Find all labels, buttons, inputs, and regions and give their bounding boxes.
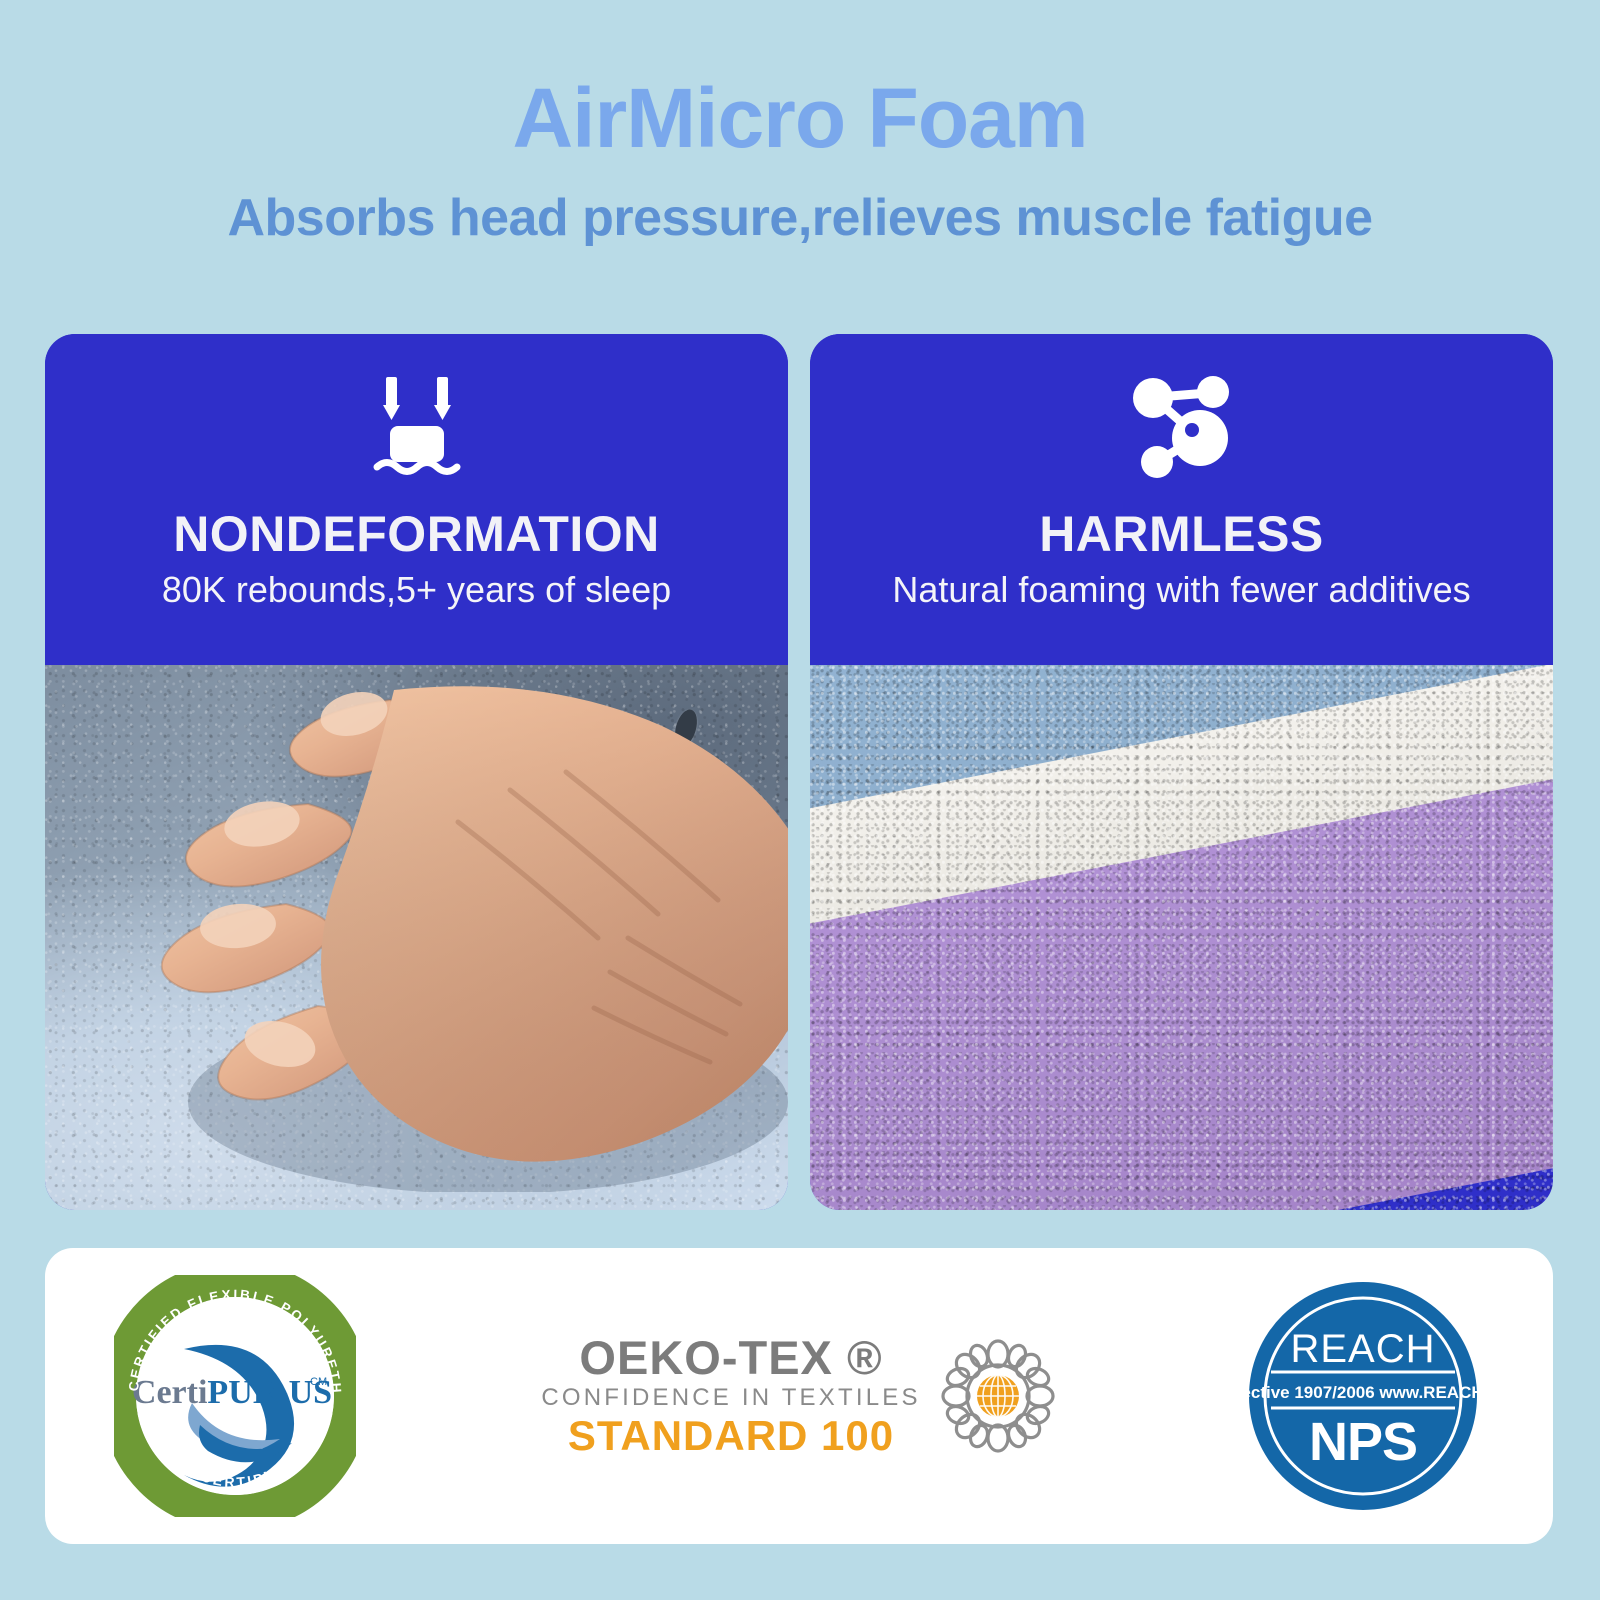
molecule-icon xyxy=(1122,334,1242,502)
card-description: 80K rebounds,5+ years of sleep xyxy=(154,560,679,610)
oeko-tex-globe-emblem xyxy=(939,1337,1057,1455)
compression-rebound-icon xyxy=(357,334,477,502)
card-header: HARMLESS Natural foaming with fewer addi… xyxy=(810,334,1553,665)
svg-text:CertiPUR-US: CertiPUR-US xyxy=(132,1374,332,1411)
page-title: AirMicro Foam xyxy=(0,0,1600,160)
cert-logo-reach-nps: REACH Directive 1907/2006 www.REACH.so N… xyxy=(1173,1248,1553,1544)
layered-foam-photo xyxy=(810,665,1553,1210)
cert-logo-oeko-tex: OEKO-TEX ® CONFIDENCE IN TEXTILES STANDA… xyxy=(425,1248,1173,1544)
feature-card-nondeformation[interactable]: NONDEFORMATION 80K rebounds,5+ years of … xyxy=(45,334,788,1210)
cert-logo-certipur-us: CertiPUR-US CM CONTAINS CERTIFIED FLEXIB… xyxy=(45,1248,425,1544)
trademark-mark: CM xyxy=(310,1376,327,1388)
hand-pressing-foam-photo xyxy=(45,665,788,1210)
certification-panel: CertiPUR-US CM CONTAINS CERTIFIED FLEXIB… xyxy=(45,1248,1553,1544)
hand-illustration xyxy=(158,672,788,1192)
reach-nps-label: NPS xyxy=(1309,1412,1417,1472)
feature-card-list: NONDEFORMATION 80K rebounds,5+ years of … xyxy=(45,334,1553,1210)
card-title: NONDEFORMATION xyxy=(163,502,670,560)
card-description: Natural foaming with fewer additives xyxy=(884,560,1478,610)
oeko-standard: STANDARD 100 xyxy=(568,1413,894,1459)
oeko-wordmark: OEKO-TEX ® xyxy=(579,1333,882,1383)
feature-card-harmless[interactable]: HARMLESS Natural foaming with fewer addi… xyxy=(810,334,1553,1210)
reach-directive: Directive 1907/2006 www.REACH.so xyxy=(1247,1383,1479,1402)
oeko-tagline: CONFIDENCE IN TEXTILES xyxy=(541,1383,920,1413)
card-title: HARMLESS xyxy=(1029,502,1334,560)
card-header: NONDEFORMATION 80K rebounds,5+ years of … xyxy=(45,334,788,665)
hero-section: AirMicro Foam Absorbs head pressure,reli… xyxy=(0,0,1600,320)
page-subtitle: Absorbs head pressure,relieves muscle fa… xyxy=(0,160,1600,246)
reach-title: REACH xyxy=(1290,1327,1435,1371)
